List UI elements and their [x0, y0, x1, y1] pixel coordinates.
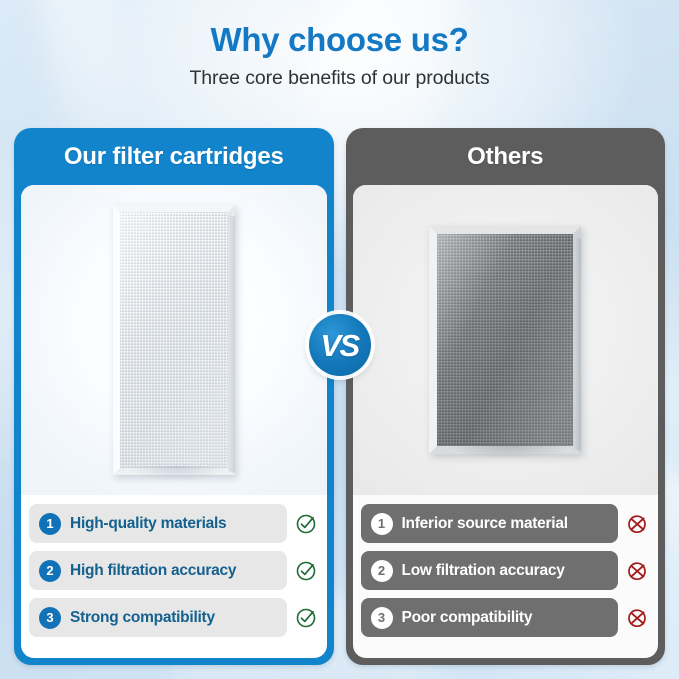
filter-mesh-texture: [120, 212, 228, 468]
filter-drop-shadow: [128, 466, 226, 482]
filter-frame: [429, 226, 581, 454]
cross-circle-icon: [625, 605, 650, 630]
benefit-number-badge: 1: [39, 513, 61, 535]
list-item: 1 High-quality materials: [29, 504, 319, 543]
cross-circle-icon: [625, 511, 650, 536]
panel-our-products: Our filter cartridges: [14, 128, 334, 665]
benefit-pill: 2 Low filtration accuracy: [361, 551, 619, 590]
infographic-page: Why choose us? Three core benefits of ou…: [0, 0, 679, 679]
comparison-container: Our filter cartridges: [14, 128, 665, 665]
benefit-label: Poor compatibility: [402, 609, 533, 627]
panel-heading-label: Others: [467, 143, 543, 171]
filter-drop-shadow: [447, 444, 571, 459]
list-item: 1 Inferior source material: [361, 504, 651, 543]
benefit-number-badge: 2: [371, 560, 393, 582]
product-image-others: [353, 185, 659, 495]
filter-cartridge-illustration: [429, 226, 581, 454]
benefit-pill: 3 Poor compatibility: [361, 598, 619, 637]
vs-badge: VS: [309, 314, 371, 376]
panel-body-ours: 1 High-quality materials 2: [21, 185, 327, 658]
panel-body-others: 1 Inferior source material: [353, 185, 659, 658]
list-item: 2 High filtration accuracy: [29, 551, 319, 590]
panel-heading-label: Our filter cartridges: [64, 143, 284, 171]
list-item: 3 Poor compatibility: [361, 598, 651, 637]
list-item: 2 Low filtration accuracy: [361, 551, 651, 590]
page-subtitle: Three core benefits of our products: [0, 67, 679, 90]
benefit-label: High-quality materials: [70, 515, 226, 533]
panel-header-ours: Our filter cartridges: [21, 128, 327, 185]
filter-frame: [113, 205, 235, 475]
benefit-number-badge: 2: [39, 560, 61, 582]
check-circle-icon: [294, 558, 319, 583]
filter-mesh-texture: [437, 234, 573, 446]
benefit-number-badge: 3: [39, 607, 61, 629]
cross-circle-icon: [625, 558, 650, 583]
panel-header-others: Others: [353, 128, 659, 185]
list-item: 3 Strong compatibility: [29, 598, 319, 637]
benefit-number-badge: 1: [371, 513, 393, 535]
benefit-pill: 3 Strong compatibility: [29, 598, 287, 637]
filter-cartridge-illustration: [113, 205, 235, 475]
page-header: Why choose us? Three core benefits of ou…: [0, 0, 679, 90]
check-circle-icon: [294, 511, 319, 536]
benefit-list-others: 1 Inferior source material: [353, 495, 659, 658]
benefit-pill: 1 High-quality materials: [29, 504, 287, 543]
benefit-label: Low filtration accuracy: [402, 562, 565, 580]
check-circle-icon: [294, 605, 319, 630]
panel-other-products: Others 1: [346, 128, 666, 665]
product-image-ours: [21, 185, 327, 495]
vs-badge-label: VS: [320, 330, 358, 361]
benefit-label: High filtration accuracy: [70, 562, 236, 580]
filter-side-edge: [228, 215, 235, 472]
page-title: Why choose us?: [0, 22, 679, 58]
benefit-pill: 1 Inferior source material: [361, 504, 619, 543]
benefit-list-ours: 1 High-quality materials 2: [21, 495, 327, 658]
benefit-label: Strong compatibility: [70, 609, 215, 627]
benefit-pill: 2 High filtration accuracy: [29, 551, 287, 590]
benefit-number-badge: 3: [371, 607, 393, 629]
benefit-label: Inferior source material: [402, 515, 568, 533]
filter-side-edge: [574, 237, 581, 450]
